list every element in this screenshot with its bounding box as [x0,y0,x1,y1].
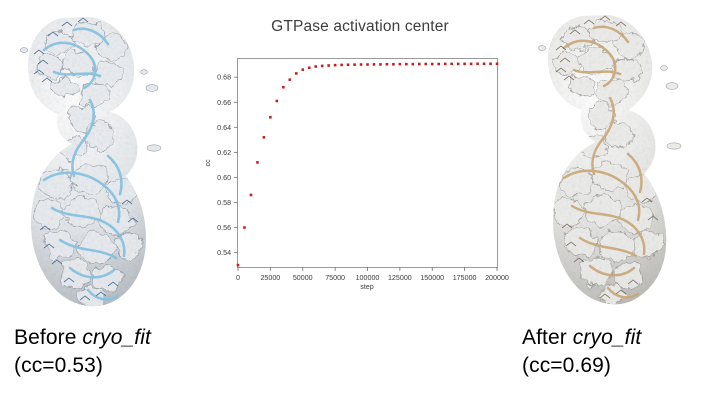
x-tick-label: 125000 [388,274,412,282]
caption-after-cc: (cc=0.69) [522,352,641,380]
x-tick-label: 75000 [325,274,345,282]
caption-after-prefix: After [522,326,573,349]
caption-after-tool-name: cryo_fit [573,326,642,349]
cc-vs-step-chart: GTPase activation center 0.540.560.580.6… [200,6,520,306]
density-surface [4,8,204,318]
y-axis-label: cc [204,159,212,167]
cryo-em-density-map-after [516,8,716,318]
plot-area: 0.540.560.580.600.620.640.660.68 0250005… [237,58,498,268]
x-tick-label: 200000 [485,274,509,282]
x-tick-label: 50000 [293,274,313,282]
caption-before-tool-name: cryo_fit [82,326,151,349]
x-tick-label: 150000 [420,274,444,282]
caption-before-prefix: Before [14,326,82,349]
y-tick-label: 0.56 [217,224,231,232]
caption-after: After cryo_fit (cc=0.69) [522,324,641,380]
x-axis-label: step [360,283,374,291]
y-tick-label: 0.60 [217,174,231,182]
y-tick-label: 0.64 [217,124,231,132]
density-surface [516,8,716,318]
y-tick-label: 0.58 [217,199,231,207]
slide-canvas: Before cryo_fit (cc=0.53) GTPase activat… [0,0,720,409]
chart-title: GTPase activation center [200,18,520,36]
x-tick-label: 175000 [453,274,477,282]
y-tick-label: 0.62 [217,149,231,157]
y-tick-label: 0.66 [217,99,231,107]
x-axis-ticks: 0250005000075000100000125000150000175000… [236,267,509,282]
x-tick-label: 100000 [356,274,380,282]
x-tick-label: 25000 [260,274,280,282]
x-tick-label: 0 [236,274,240,282]
caption-before: Before cryo_fit (cc=0.53) [14,324,151,380]
caption-before-cc: (cc=0.53) [14,352,151,380]
y-axis-ticks: 0.540.560.580.600.620.640.660.68 [217,74,238,257]
cryo-em-density-map-before [4,8,204,318]
y-tick-label: 0.54 [217,249,231,257]
y-tick-label: 0.68 [217,74,231,82]
